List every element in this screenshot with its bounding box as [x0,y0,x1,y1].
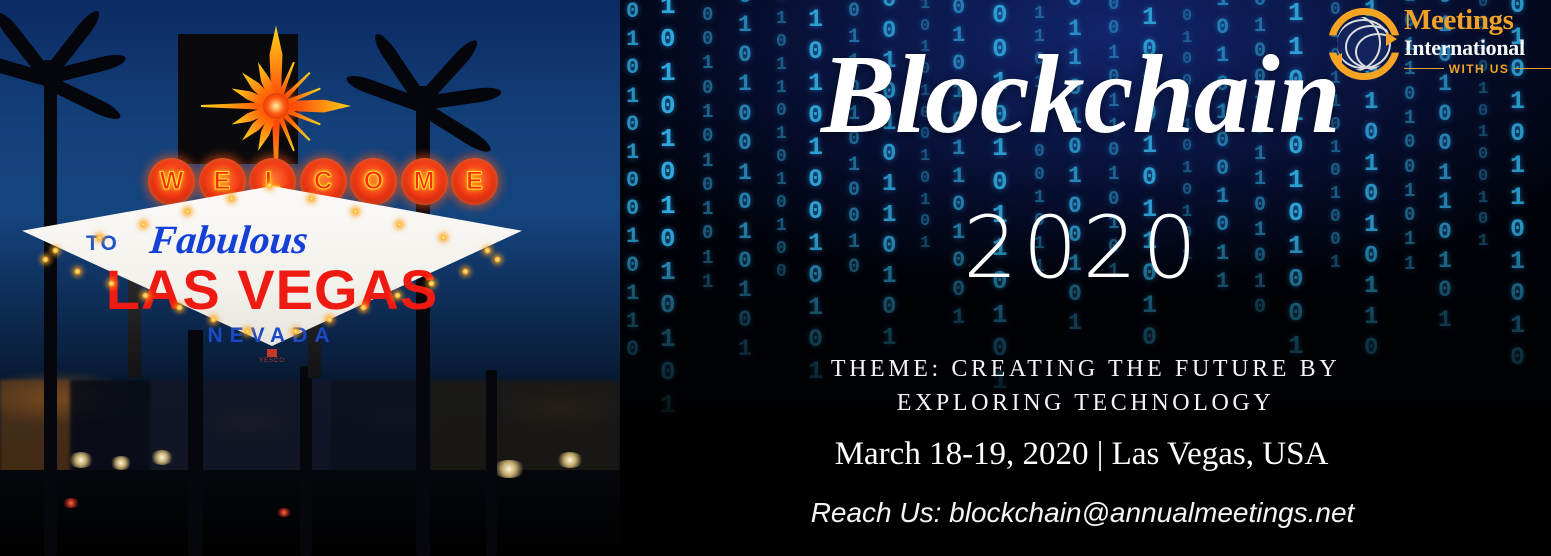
arrow-head-left-icon [1331,53,1342,67]
meetings-international-logo[interactable]: Meetings International WITH US [1326,2,1551,88]
las-vegas-photo: W E L C O M E TO Fabulous LAS VEGAS NEVA… [0,0,620,556]
sign-text-fabulous: Fabulous [148,216,311,263]
banner-content-panel: 1 0 1 0 1 0 1 0 0 1 0 1 1 01 0 1 0 1 0 1… [620,0,1551,556]
arrow-head-right-icon [1386,32,1397,46]
tagline-rule-left [1404,68,1444,69]
tagline-rule-right [1514,68,1551,69]
logo-line-international: International [1404,36,1551,59]
palm-trunk [486,370,497,556]
headlight [110,456,132,470]
taillight [276,508,292,517]
headlight [492,460,526,478]
event-dateline: March 18-19, 2020 | Las Vegas, USA [620,436,1551,473]
palm-trunk [300,366,312,556]
conference-banner: W E L C O M E TO Fabulous LAS VEGAS NEVA… [0,0,1551,556]
headlight [68,452,94,468]
sign-diamond: TO Fabulous LAS VEGAS NEVADA YESCO [22,186,522,346]
sign-text-las-vegas: LAS VEGAS [22,262,522,318]
sign-text-nevada: NEVADA [22,324,522,348]
headlight [556,452,584,468]
event-year: 2020 [620,205,1551,291]
headlight [150,450,174,465]
globe-icon [1328,8,1400,80]
welcome-to-las-vegas-sign: W E L C O M E TO Fabulous LAS VEGAS NEVA… [8,18,548,348]
star-core [263,93,289,119]
logo-line-meetings: Meetings [1404,6,1551,36]
yesco-mark-icon [267,349,277,357]
logo-tagline-row: WITH US [1404,62,1551,76]
taillight [62,498,80,508]
event-theme: Theme: Creating the Future by Exploring … [760,352,1411,420]
logo-tagline: WITH US [1449,62,1509,76]
contact-email-line: Reach Us: blockchain@annualmeetings.net [620,497,1551,529]
logo-wordmark: Meetings International WITH US [1404,6,1551,76]
sign-maker-mark: YESCO [22,358,522,364]
